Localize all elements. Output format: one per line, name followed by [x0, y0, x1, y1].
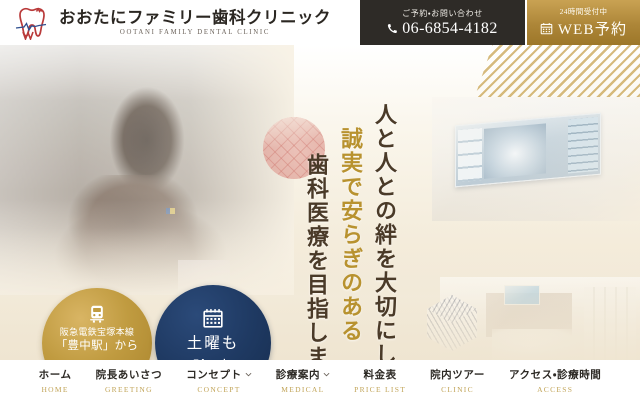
calendar-icon	[540, 22, 553, 35]
nav-item-greeting[interactable]: 院長あいさつ GREETING	[95, 367, 164, 394]
phone-icon	[387, 23, 398, 34]
header-phone-block[interactable]: ご予約・お問い合わせ 06-6854-4182	[360, 0, 525, 45]
web-reservation-text: WEB予約	[558, 18, 627, 39]
main-navigation: ホーム HOME 院長あいさつ GREETING コンセプト CONCEPT 診…	[0, 360, 640, 400]
nav-item-price-list-jp: 料金表	[363, 367, 396, 382]
nav-item-home-en: HOME	[41, 385, 68, 394]
nav-item-home[interactable]: ホーム HOME	[38, 367, 73, 394]
nav-item-greeting-en: GREETING	[105, 385, 153, 394]
nav-item-greeting-jp: 院長あいさつ	[96, 367, 163, 382]
nav-item-concept-en: CONCEPT	[197, 385, 240, 394]
nav-item-medical-en: MEDICAL	[281, 385, 324, 394]
hero-catch-copy: 人と人との絆を大切にした 誠実で安らぎのある 歯科医療を目指します	[300, 97, 400, 360]
access-badge-line-1: 阪急電鉄宝塚本線	[60, 326, 134, 338]
nav-item-clinic-en: CLINIC	[441, 385, 474, 394]
nav-item-access-en: ACCESS	[537, 385, 573, 394]
tooth-heartbeat-icon	[12, 6, 52, 40]
nav-item-concept-jp: コンセプト	[186, 367, 252, 382]
web-reservation-label: 24時間受付中	[560, 6, 608, 17]
nav-item-clinic-jp: 院内ツアー	[430, 367, 485, 382]
hero-section: 人と人との絆を大切にした 誠実で安らぎのある 歯科医療を目指します 阪急電鉄宝塚…	[0, 45, 640, 360]
chevron-down-icon	[245, 372, 252, 377]
nav-item-medical-jp: 診療案内	[276, 367, 330, 382]
nav-item-medical-label: 診療案内	[276, 367, 320, 382]
nav-item-medical[interactable]: 診療案内 MEDICAL	[275, 367, 331, 394]
chevron-down-icon	[323, 372, 330, 377]
nav-item-concept-label: コンセプト	[186, 367, 242, 382]
phone-label: ご予約・お問い合わせ	[402, 8, 483, 19]
site-header: おおたにファミリー歯科クリニック OOTANI FAMILY DENTAL CL…	[0, 0, 640, 45]
catch-copy-line-2: 誠実で安らぎのある	[334, 127, 366, 343]
catch-copy-line-1: 人と人との絆を大切にした	[368, 103, 400, 360]
nav-item-concept[interactable]: コンセプト CONCEPT	[185, 367, 253, 394]
nav-item-home-jp: ホーム	[39, 367, 72, 382]
nav-item-access-jp: アクセス・診療時間	[509, 367, 601, 382]
dentist-photo-overlay	[0, 45, 294, 295]
brand-logo[interactable]: おおたにファミリー歯科クリニック OOTANI FAMILY DENTAL CL…	[0, 0, 360, 45]
saturday-badge-line-1: 土曜も	[187, 332, 240, 355]
xray-monitor-overlay	[432, 97, 640, 221]
brand-name-en: OOTANI FAMILY DENTAL CLINIC	[59, 29, 331, 36]
calendar-icon	[202, 307, 224, 329]
phone-number: 06-6854-4182	[402, 20, 497, 38]
nav-item-price-list[interactable]: 料金表 PRICE LIST	[353, 367, 407, 394]
web-reservation-button[interactable]: 24時間受付中 WEB予約	[525, 0, 640, 45]
access-badge-line-2: 「豊中駅」から	[56, 338, 139, 355]
nav-item-price-list-en: PRICE LIST	[354, 385, 406, 394]
nav-item-clinic[interactable]: 院内ツアー CLINIC	[429, 367, 486, 394]
train-icon	[87, 305, 107, 323]
brand-name-jp: おおたにファミリー歯科クリニック	[59, 9, 331, 27]
catch-copy-line-3: 歯科医療を目指します	[300, 153, 332, 360]
nav-item-access[interactable]: アクセス・診療時間 ACCESS	[508, 367, 602, 394]
